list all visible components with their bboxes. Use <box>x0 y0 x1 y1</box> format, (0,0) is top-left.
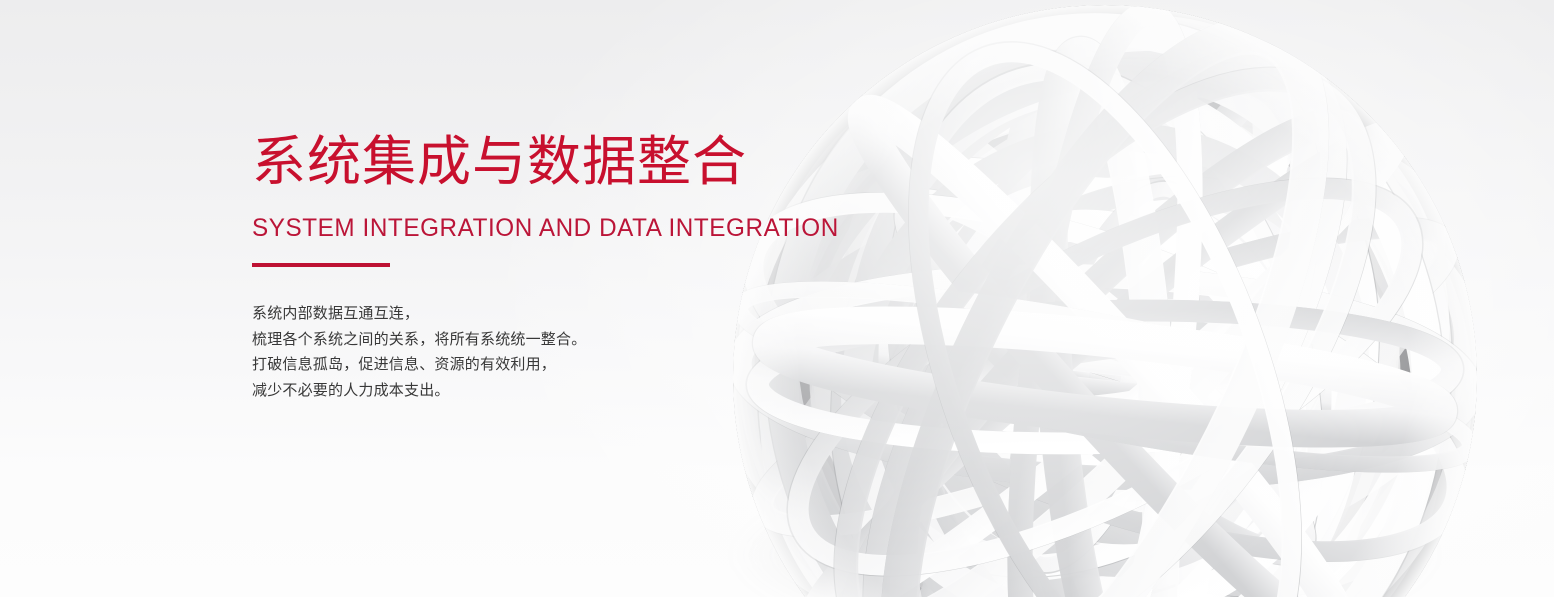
description-line-4: 减少不必要的人力成本支出。 <box>252 378 812 404</box>
sphere-shadow <box>735 470 1435 597</box>
hero-banner: 系统集成与数据整合 SYSTEM INTEGRATION AND DATA IN… <box>0 0 1554 597</box>
banner-text-block: 系统集成与数据整合 SYSTEM INTEGRATION AND DATA IN… <box>252 131 812 403</box>
description-line-1: 系统内部数据互通互连， <box>252 301 812 327</box>
description-line-2: 梳理各个系统之间的关系，将所有系统统一整合。 <box>252 327 812 353</box>
description-line-3: 打破信息孤岛，促进信息、资源的有效利用， <box>252 352 812 378</box>
page-subtitle: SYSTEM INTEGRATION AND DATA INTEGRATION <box>252 214 795 242</box>
tangled-ribbon-sphere-image <box>690 0 1520 597</box>
page-title: 系统集成与数据整合 <box>252 131 812 193</box>
title-divider <box>252 263 390 267</box>
banner-description: 系统内部数据互通互连，梳理各个系统之间的关系，将所有系统统一整合。打破信息孤岛，… <box>252 301 812 403</box>
